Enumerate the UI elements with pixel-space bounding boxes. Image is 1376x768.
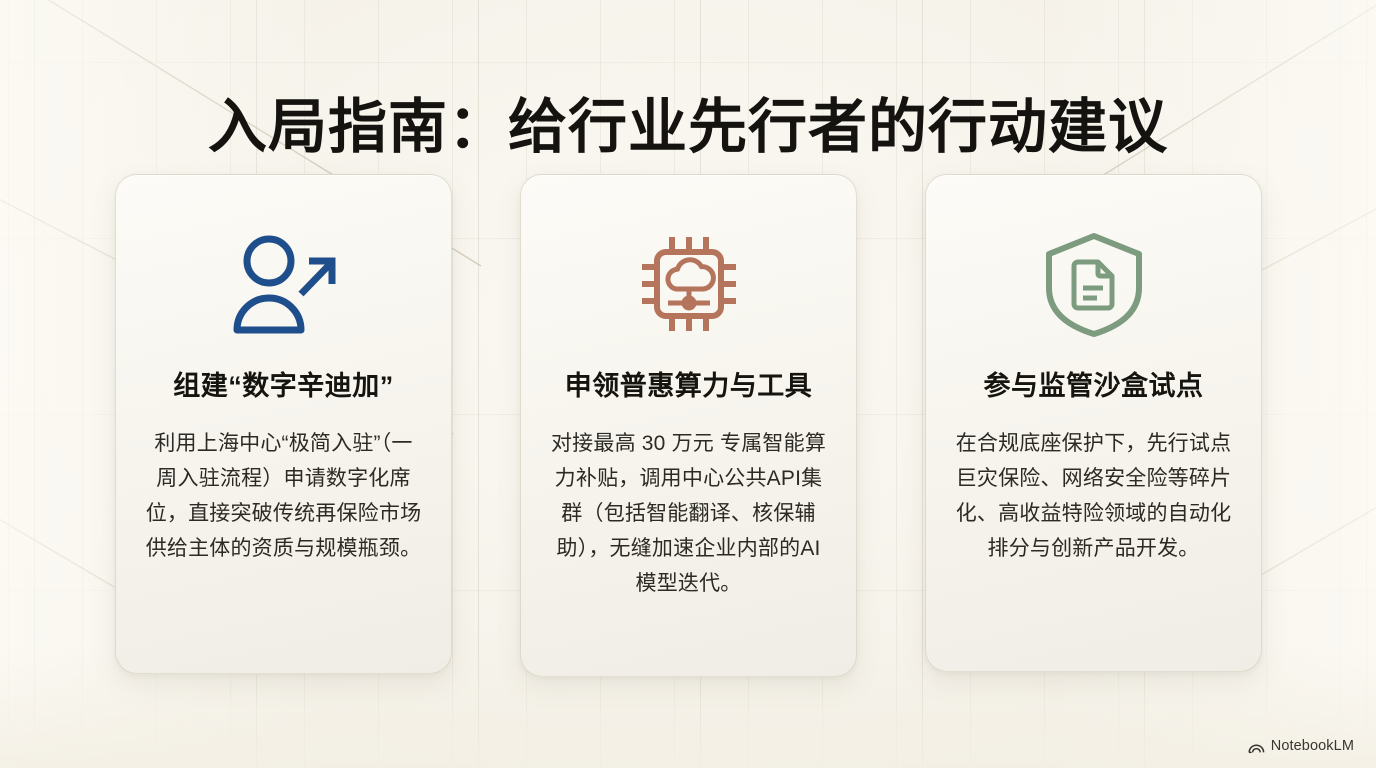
watermark-label: NotebookLM bbox=[1271, 738, 1354, 754]
slide-canvas: 入局指南：给行业先行者的行动建议 组建“数字辛迪加” 利用上海中心“极简入驻”（… bbox=[0, 0, 1376, 768]
notebooklm-arc-icon bbox=[1248, 739, 1265, 754]
shield-document-icon bbox=[954, 225, 1233, 343]
card-compute-subsidy[interactable]: 申领普惠算力与工具 对接最高 30 万元 专属智能算力补贴，调用中心公共API集… bbox=[520, 174, 857, 677]
person-arrow-icon bbox=[144, 225, 423, 343]
card-title: 参与监管沙盒试点 bbox=[954, 369, 1233, 404]
card-title: 组建“数字辛迪加” bbox=[144, 369, 423, 404]
card-body: 利用上海中心“极简入驻”（一周入驻流程）申请数字化席位，直接突破传统再保险市场供… bbox=[144, 426, 423, 566]
card-title: 申领普惠算力与工具 bbox=[549, 369, 828, 404]
page-title: 入局指南：给行业先行者的行动建议 bbox=[0, 94, 1376, 162]
recommendation-cards: 组建“数字辛迪加” 利用上海中心“极简入驻”（一周入驻流程）申请数字化席位，直接… bbox=[115, 174, 1262, 677]
cloud-chip-icon bbox=[549, 225, 828, 343]
card-regulatory-sandbox[interactable]: 参与监管沙盒试点 在合规底座保护下，先行试点巨灾保险、网络安全险等碎片化、高收益… bbox=[925, 174, 1262, 672]
card-body: 对接最高 30 万元 专属智能算力补贴，调用中心公共API集群（包括智能翻译、核… bbox=[549, 426, 828, 601]
card-digital-syndicate[interactable]: 组建“数字辛迪加” 利用上海中心“极简入驻”（一周入驻流程）申请数字化席位，直接… bbox=[115, 174, 452, 674]
notebooklm-watermark: NotebookLM bbox=[1248, 738, 1354, 754]
card-body: 在合规底座保护下，先行试点巨灾保险、网络安全险等碎片化、高收益特险领域的自动化排… bbox=[954, 426, 1233, 566]
